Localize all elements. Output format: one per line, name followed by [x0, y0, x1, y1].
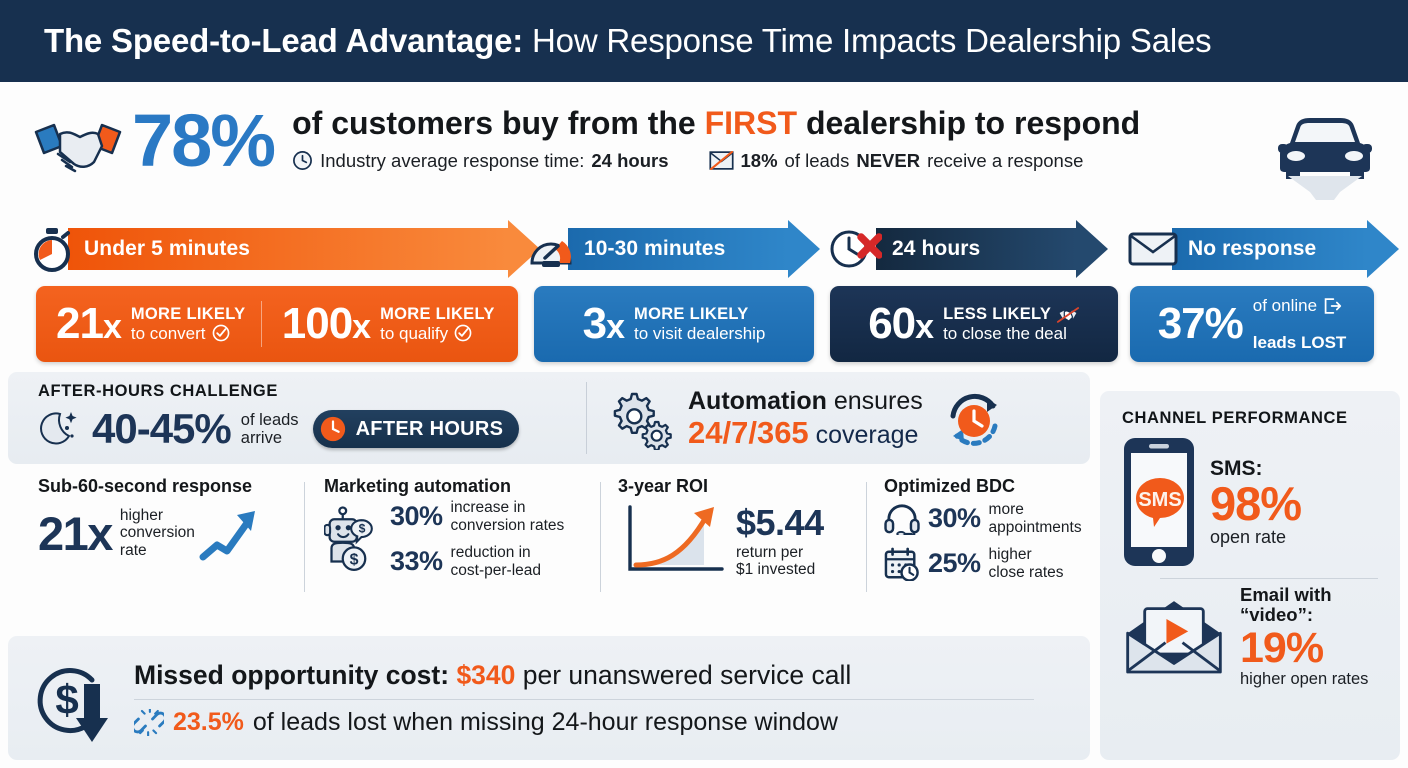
- timeline-stage-2[interactable]: 10-30 minutes: [528, 220, 820, 278]
- handshake-icon: [30, 112, 126, 184]
- metric-title-3: 3-year ROI: [618, 476, 868, 497]
- metric-col-sub60: Sub-60-second response 21x higherconvers…: [38, 476, 296, 563]
- automation-text: Automation ensures 24/7/365 coverage: [688, 387, 923, 451]
- clock-refresh-icon: [939, 386, 1009, 452]
- response-time-timeline: Under 5 minutes 10-30 minutes: [0, 220, 1408, 280]
- metric-divider-1: [304, 482, 305, 592]
- timeline-label-1: Under 5 minutes: [84, 237, 250, 261]
- moon-stars-icon: [38, 406, 84, 452]
- trend-up-arrow-icon: [199, 503, 265, 563]
- metric-value-30pct-appt: 30%: [928, 503, 981, 534]
- stat-card-21x: 21x MORE LIKELY to convert: [50, 302, 251, 346]
- timeline-stage-3[interactable]: 24 hours: [828, 220, 1108, 278]
- after-hours-badge[interactable]: AFTER HOURS: [313, 410, 520, 448]
- stat-card-leads-lost[interactable]: 37% of online leads LOST: [1130, 286, 1374, 362]
- channel-sms-text: SMS: 98% open rate: [1210, 457, 1301, 548]
- channel-sms-sub: open rate: [1210, 528, 1301, 548]
- metric-divider-3: [866, 482, 867, 592]
- stat-value-37pct: 37%: [1158, 302, 1243, 346]
- gears-icon: [608, 388, 674, 450]
- metric-roi-text: $5.44 return per$1 invested: [736, 502, 824, 579]
- page-title-rest: How Response Time Impacts Dealership Sal…: [523, 22, 1211, 59]
- metric-body-3: $5.44 return per$1 invested: [618, 499, 868, 581]
- stopwatch-icon: [30, 226, 74, 272]
- band-divider: [586, 382, 587, 454]
- stat-cards-row: 21x MORE LIKELY to convert 100x MORE LIK…: [0, 286, 1408, 366]
- channel-divider: [1160, 578, 1378, 579]
- metric-value-33pct: 33%: [390, 546, 443, 577]
- timeline-arrow-1: Under 5 minutes: [68, 228, 540, 270]
- envelope-slash-icon: [709, 151, 734, 170]
- metric-body-2: $ $ 30% increase inconversion rates: [324, 497, 594, 579]
- channel-email-value: 19%: [1240, 626, 1384, 671]
- infographic-page: The Speed-to-Lead Advantage: How Respons…: [0, 0, 1408, 768]
- metric-value-25pct: 25%: [928, 548, 981, 579]
- metric-col-marketing: Marketing automation: [324, 476, 594, 579]
- headset-icon: [884, 503, 920, 535]
- channel-sms-value: 98%: [1210, 480, 1301, 528]
- stat-label-lower-1: to convert: [131, 324, 246, 343]
- metric-row-4a: 30% moreappointments: [884, 501, 1099, 536]
- stat-card-close-deal[interactable]: 60x LESS LIKELY to close the deal: [830, 286, 1118, 362]
- hero-headline-before: of customers buy from the: [292, 105, 705, 141]
- stat-label-lower-3: to visit dealership: [634, 324, 765, 343]
- calendar-clock-icon: [884, 547, 920, 581]
- missed-opportunity-line2: 23.5%of leads lost when missing 24-hour …: [134, 708, 1034, 737]
- timeline-arrow-3: 24 hours: [876, 228, 1108, 270]
- metric-label-4a: moreappointments: [989, 501, 1082, 536]
- metric-title-4: Optimized BDC: [884, 476, 1099, 497]
- stat-card-100x: 100x MORE LIKELY to qualify: [272, 302, 504, 346]
- after-hours-row: 40-45% of leadsarrive AFTER HOURS: [38, 405, 519, 453]
- stat-card-convert-qualify[interactable]: 21x MORE LIKELY to convert 100x MORE LIK…: [36, 286, 518, 362]
- metric-row-2b: 33% reduction incost-per-lead: [390, 544, 564, 579]
- hero-section: 78% of customers buy from the FIRST deal…: [0, 82, 1408, 216]
- stat-value-3x: 3x: [583, 302, 624, 346]
- automation-line1: Automation ensures: [688, 387, 923, 415]
- metric-row-2a: 30% increase inconversion rates: [390, 499, 564, 534]
- hero-percent: 78%: [132, 106, 274, 176]
- after-hours-percent: 40-45%: [92, 405, 231, 453]
- metric-label-4b: higherclose rates: [989, 546, 1064, 581]
- metric-value-30pct-conv: 30%: [390, 501, 443, 532]
- card-divider: [261, 301, 262, 347]
- envelope-icon: [1128, 231, 1178, 267]
- broken-link-icon: [134, 709, 164, 736]
- metric-title-2: Marketing automation: [324, 476, 594, 497]
- clock-icon: [319, 415, 347, 443]
- stat-label-lower-2: to qualify: [380, 324, 495, 343]
- stat-label-upper-5: of online: [1253, 296, 1347, 315]
- automation-line2: 24/7/365 coverage: [688, 415, 923, 451]
- timeline-stage-4[interactable]: No response: [1128, 220, 1399, 278]
- phone-sms-icon: SMS: [1122, 436, 1196, 568]
- hero-headline-highlight: FIRST: [705, 105, 797, 141]
- hero-sub2-mid: of leads: [785, 150, 850, 172]
- hero-text-block: of customers buy from the FIRST dealersh…: [292, 106, 1140, 172]
- hero-sub1-value: 24 hours: [591, 150, 668, 172]
- hero-sub2-end: receive a response: [927, 150, 1083, 172]
- channel-email-text: Email with “video”: 19% higher open rate…: [1240, 585, 1384, 689]
- metric-label-1: higherconversionrate: [120, 507, 195, 560]
- stat-label-upper-1: MORE LIKELY: [131, 305, 246, 323]
- stat-label-upper-2: MORE LIKELY: [380, 305, 495, 323]
- logout-icon: [1323, 297, 1342, 315]
- channel-item-sms: SMS SMS: 98% open rate: [1122, 436, 1384, 568]
- hero-subline: Industry average response time: 24 hours…: [292, 150, 1140, 172]
- svg-text:$: $: [350, 551, 359, 568]
- metric-label-3: return per$1 invested: [736, 544, 824, 579]
- page-header: The Speed-to-Lead Advantage: How Respons…: [0, 0, 1408, 82]
- page-title: The Speed-to-Lead Advantage: How Respons…: [44, 22, 1211, 60]
- timeline-label-2: 10-30 minutes: [584, 237, 725, 261]
- metrics-row: Sub-60-second response 21x higherconvers…: [8, 476, 1090, 610]
- timeline-label-4: No response: [1188, 237, 1316, 261]
- growth-chart-icon: [618, 499, 728, 581]
- channel-email-key: Email with “video”:: [1240, 585, 1384, 626]
- missed-opportunity-line1: Missed opportunity cost: $340 per unansw…: [134, 660, 1034, 691]
- metric-label-2a: increase inconversion rates: [451, 499, 565, 534]
- svg-text:SMS: SMS: [1138, 489, 1181, 511]
- metric-col-bdc: Optimized BDC 30% moreap: [884, 476, 1099, 581]
- gauge-icon: [528, 227, 574, 271]
- clock-x-icon: [828, 226, 882, 272]
- metric-col-roi: 3-year ROI $5.44 return: [618, 476, 868, 581]
- divider-rule: [134, 699, 1034, 700]
- check-circle-icon: [212, 324, 230, 342]
- stat-label-lower-5: leads LOST: [1253, 333, 1347, 352]
- missed-opportunity-text: Missed opportunity cost: $340 per unansw…: [134, 660, 1034, 737]
- stat-label-upper-3: MORE LIKELY: [634, 305, 749, 323]
- stat-value-21x: 21x: [56, 302, 121, 346]
- metric-value-roi: $5.44: [736, 502, 824, 544]
- missed-opportunity-bar: $ Missed opportunity cost: $340 per unan…: [8, 636, 1090, 760]
- handshake-slash-icon: [1056, 305, 1080, 324]
- stat-value-100x: 100x: [282, 302, 370, 346]
- metric-divider-2: [600, 482, 601, 592]
- timeline-stage-1[interactable]: Under 5 minutes: [30, 220, 540, 278]
- dollar-down-icon: $: [34, 652, 118, 744]
- after-hours-title: AFTER-HOURS CHALLENGE: [38, 382, 519, 401]
- metric-title-1: Sub-60-second response: [38, 476, 296, 497]
- channel-email-sub: higher open rates: [1240, 670, 1384, 688]
- stat-label-lower-4: to close the deal: [943, 324, 1080, 343]
- hero-sub2-value: 18%: [741, 150, 778, 172]
- timeline-label-3: 24 hours: [892, 237, 980, 261]
- hero-headline-after: dealership to respond: [797, 105, 1140, 141]
- automation-block: Automation ensures 24/7/365 coverage: [608, 386, 1009, 452]
- stat-card-visit[interactable]: 3x MORE LIKELY to visit dealership: [534, 286, 814, 362]
- email-video-icon: [1122, 597, 1226, 677]
- clock-icon: [292, 150, 313, 171]
- hero-headline: of customers buy from the FIRST dealersh…: [292, 106, 1140, 141]
- metric-row-1: 21x higherconversionrate: [38, 503, 296, 563]
- page-title-bold: The Speed-to-Lead Advantage:: [44, 22, 523, 59]
- metric-row-4b: 25% higherclose rates: [884, 546, 1099, 581]
- check-circle-icon: [454, 324, 472, 342]
- after-hours-automation-band: AFTER-HOURS CHALLENGE 40-45% of leadsarr…: [8, 372, 1090, 464]
- channel-item-email: Email with “video”: 19% higher open rate…: [1122, 585, 1384, 689]
- hero-sub1-label: Industry average response time:: [320, 150, 584, 172]
- svg-text:$: $: [359, 521, 366, 535]
- hero-sub2-strong: NEVER: [856, 150, 920, 172]
- after-hours-note: of leadsarrive: [241, 411, 299, 447]
- channel-performance-title: CHANNEL PERFORMANCE: [1122, 409, 1384, 428]
- svg-text:$: $: [55, 676, 78, 723]
- after-hours-block: AFTER-HOURS CHALLENGE 40-45% of leadsarr…: [38, 382, 519, 453]
- timeline-arrow-4: No response: [1172, 228, 1399, 270]
- car-icon: [1270, 108, 1380, 200]
- stat-label-upper-4: LESS LIKELY: [943, 305, 1080, 323]
- metric-value-21x: 21x: [38, 506, 112, 561]
- robot-dollar-icon: $ $: [324, 503, 384, 573]
- left-panel: AFTER-HOURS CHALLENGE 40-45% of leadsarr…: [8, 372, 1090, 610]
- metric-label-2b: reduction incost-per-lead: [451, 544, 541, 579]
- stat-value-60x: 60x: [868, 302, 933, 346]
- timeline-arrow-2: 10-30 minutes: [568, 228, 820, 270]
- channel-performance-panel: CHANNEL PERFORMANCE SMS SMS: 98% open ra…: [1100, 391, 1400, 760]
- after-hours-badge-label: AFTER HOURS: [356, 418, 504, 441]
- metric-rows-2: 30% increase inconversion rates 33% redu…: [390, 497, 564, 579]
